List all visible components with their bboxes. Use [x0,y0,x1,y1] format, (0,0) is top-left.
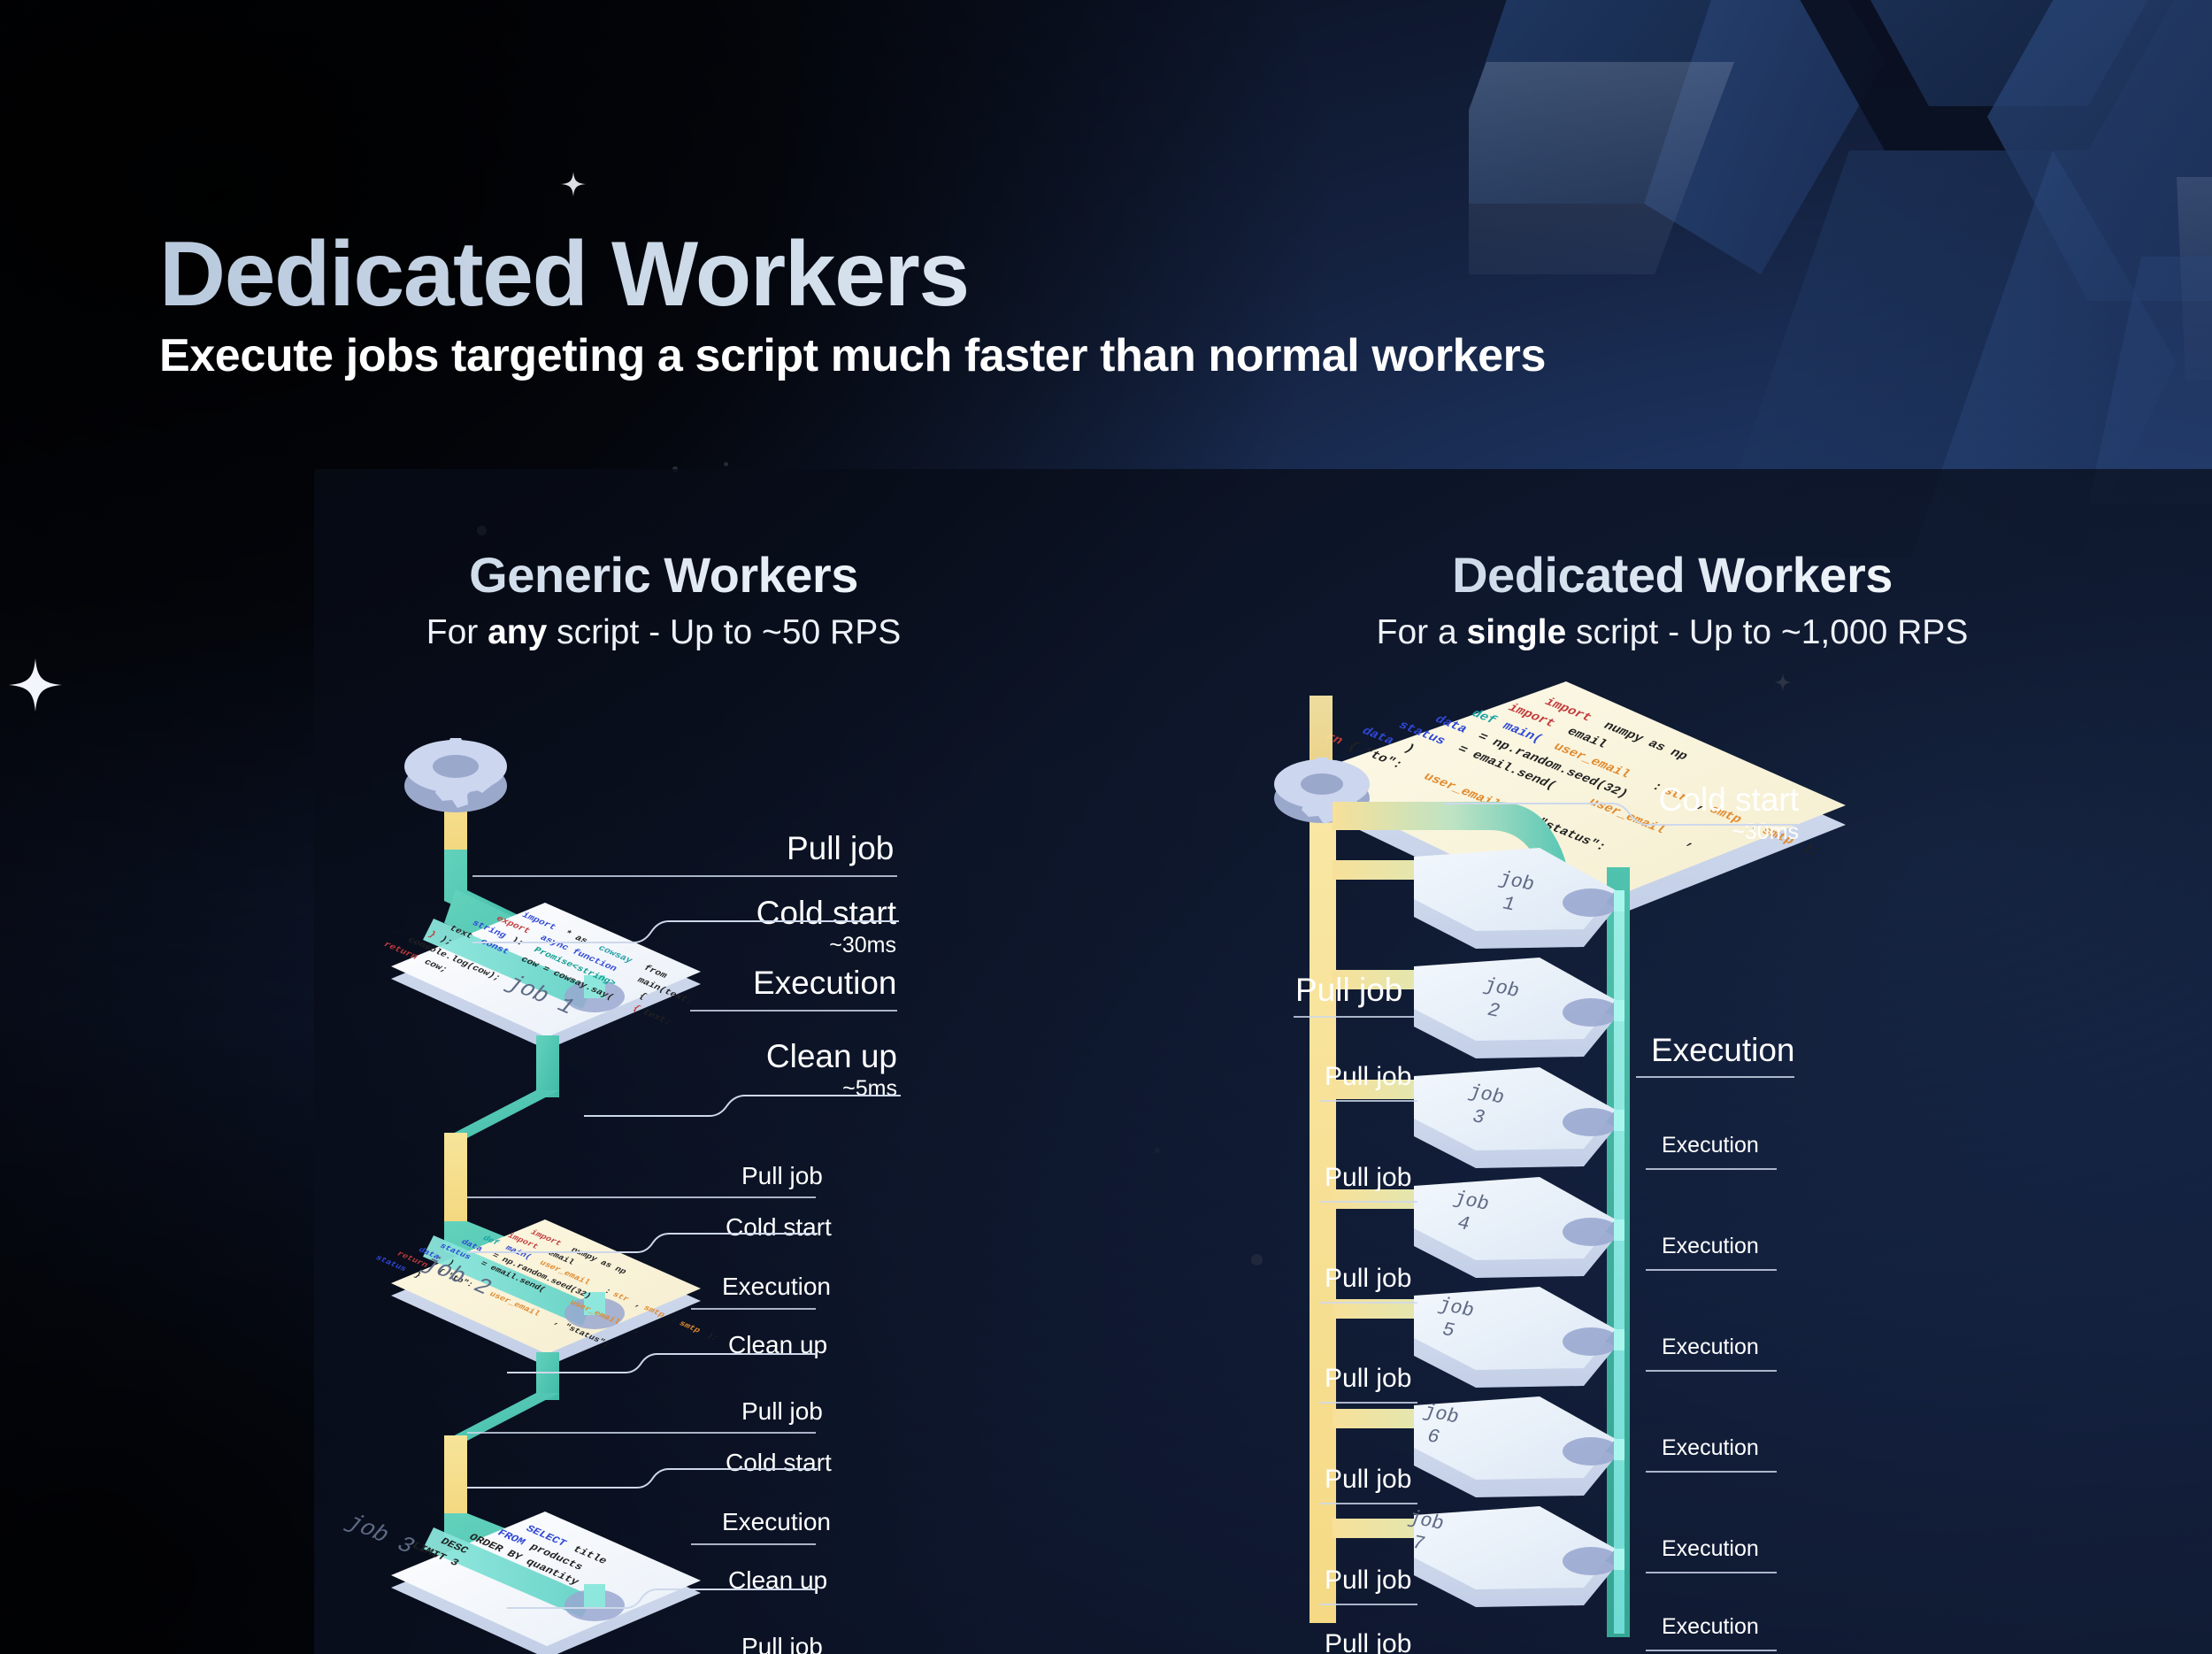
leader-clean-up-2 [507,1345,817,1379]
label-pull-job-row-2: Pull job [1325,1165,1411,1191]
dedicated-sub-emphasis: single [1467,613,1567,651]
rule-pull-job-row-2 [1320,1201,1417,1203]
rule-pull-job-3 [467,1432,816,1434]
dedicated-workers-diagram: importnumpy as np importemail defmain(us… [1363,726,2053,1654]
label-pull-job-top: Pull job [1295,973,1402,1006]
column-header-dedicated: Dedicated Workers For a single script - … [1168,549,2177,652]
rule-execution-1 [690,1010,897,1012]
rule-execution-2 [691,1308,816,1310]
dedicated-sub-suffix: script - Up to ~1,000 RPS [1566,613,1968,651]
label-pull-job-4: Pull job [741,1635,823,1654]
svg-text:);: ); [704,1331,720,1342]
rule-execution-row-3 [1646,1269,1777,1271]
label-pull-job-3: Pull job [741,1399,823,1424]
leader-clean-up-3 [507,1581,817,1614]
rule-execution-row-4 [1646,1370,1777,1372]
page-title: Dedicated Workers [159,228,2017,320]
column-subtitle-generic: For any script - Up to ~50 RPS [159,614,1168,652]
label-execution-row-4: Execution [1662,1336,1759,1358]
leader-clean-up-1 [584,1087,901,1122]
label-pull-job-row-7: Pull job [1325,1631,1411,1654]
label-execution-3: Execution [722,1510,831,1535]
rule-execution-row-2 [1646,1168,1777,1170]
dust-dot [724,462,728,466]
page-subtitle: Execute jobs targeting a script much fas… [159,329,2017,382]
dedicated-sub-prefix: For a [1377,613,1467,651]
label-execution-row-5: Execution [1662,1437,1759,1459]
rule-execution-row-1 [1636,1076,1794,1078]
rule-pull-job-row-1 [1320,1100,1417,1102]
svg-text::: : [669,1316,680,1325]
rule-pull-job-row-4 [1320,1402,1417,1404]
leader-cold-start-2 [467,1225,818,1258]
rule-pull-job-top [1294,1016,1417,1018]
label-pull-job-row-1: Pull job [1325,1064,1411,1090]
rule-pull-job-2 [467,1196,816,1198]
leader-cold-start-dedicated [1444,796,1801,832]
rule-pull-job-row-6 [1320,1604,1417,1605]
label-pull-job-1: Pull job [787,832,894,865]
label-execution-row-6: Execution [1662,1538,1759,1560]
svg-text:smtp: smtp [677,1319,703,1335]
column-header-generic: Generic Workers For any script - Up to ~… [159,549,1168,652]
svg-text:text:: text: [640,1008,673,1027]
label-execution-1: Execution [753,966,897,999]
generic-sub-prefix: For [426,613,488,651]
label-pull-job-row-5: Pull job [1325,1466,1411,1493]
column-title-generic: Generic Workers [159,549,1168,602]
svg-text:);: ); [1800,842,1824,858]
rule-execution-row-5 [1646,1471,1777,1473]
generic-sub-suffix: script - Up to ~50 RPS [547,613,901,651]
rule-execution-3 [691,1543,816,1545]
leader-cold-start-3 [467,1460,818,1494]
label-execution-row-3: Execution [1662,1235,1759,1258]
rule-pull-job-1 [472,875,897,877]
rule-execution-row-7 [1646,1650,1777,1651]
label-pull-job-row-3: Pull job [1325,1266,1411,1292]
label-execution-row-7: Execution [1662,1616,1759,1638]
label-pull-job-2: Pull job [741,1164,823,1189]
label-execution-row-2: Execution [1662,1135,1759,1157]
generic-sub-emphasis: any [488,613,547,651]
column-subtitle-dedicated: For a single script - Up to ~1,000 RPS [1168,614,2177,652]
rule-pull-job-row-3 [1320,1302,1417,1304]
label-execution-2: Execution [722,1274,831,1299]
label-pull-job-row-6: Pull job [1325,1567,1411,1594]
label-pull-job-row-4: Pull job [1325,1366,1411,1392]
leader-cold-start-1 [472,910,899,949]
label-execution-row-1: Execution [1651,1034,1795,1066]
rule-pull-job-row-5 [1320,1503,1417,1504]
page-header: Dedicated Workers Execute jobs targeting… [159,228,2017,382]
rule-execution-row-6 [1646,1572,1777,1573]
gear-icon [404,738,507,812]
column-title-dedicated: Dedicated Workers [1168,549,2177,602]
